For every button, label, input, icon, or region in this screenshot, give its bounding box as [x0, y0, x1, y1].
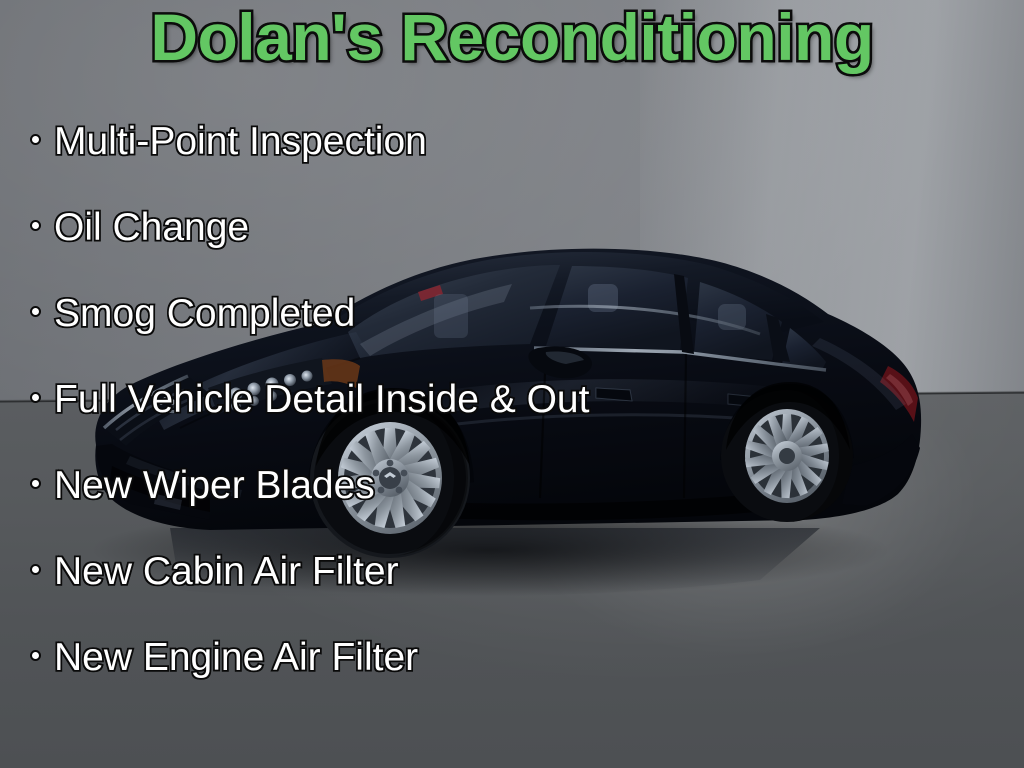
list-item: Full Vehicle Detail Inside & Out: [30, 380, 790, 466]
page-title: Dolan's Reconditioning: [0, 4, 1024, 70]
reconditioning-list: Multi-Point Inspection Oil Change Smog C…: [30, 122, 790, 724]
list-item: Smog Completed: [30, 294, 790, 380]
list-item: Oil Change: [30, 208, 790, 294]
bullet-dot-icon: [30, 306, 41, 317]
list-item-label: New Engine Air Filter: [54, 638, 418, 677]
bullet-dot-icon: [30, 220, 41, 231]
bullet-dot-icon: [30, 564, 41, 575]
list-item: Multi-Point Inspection: [30, 122, 790, 208]
bullet-dot-icon: [30, 392, 41, 403]
list-item-label: Oil Change: [54, 208, 249, 247]
list-item: New Cabin Air Filter: [30, 552, 790, 638]
bullet-dot-icon: [30, 650, 41, 661]
list-item-label: Multi-Point Inspection: [54, 122, 427, 161]
list-item: New Engine Air Filter: [30, 638, 790, 724]
list-item-label: New Cabin Air Filter: [54, 552, 399, 591]
list-item: New Wiper Blades: [30, 466, 790, 552]
list-item-label: New Wiper Blades: [54, 466, 375, 505]
bullet-dot-icon: [30, 478, 41, 489]
bullet-dot-icon: [30, 134, 41, 145]
list-item-label: Smog Completed: [54, 294, 355, 333]
list-item-label: Full Vehicle Detail Inside & Out: [54, 380, 589, 419]
marketing-graphic: Dolan's Reconditioning Multi-Point Inspe…: [0, 0, 1024, 768]
